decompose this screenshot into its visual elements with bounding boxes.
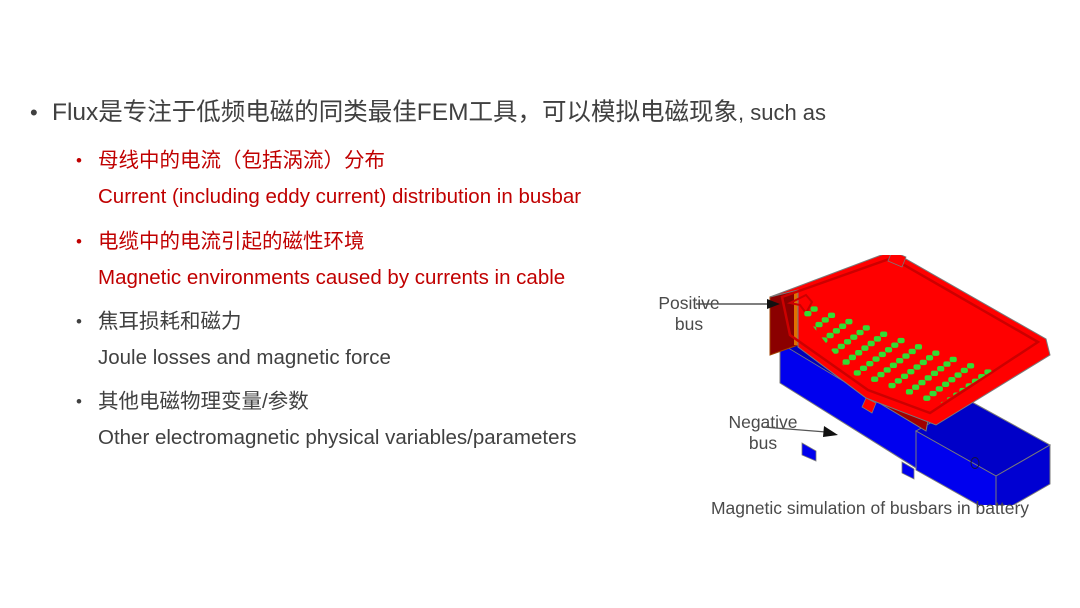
- cell-dot: [896, 358, 903, 363]
- cell-dot: [888, 383, 895, 388]
- cell-dot: [967, 363, 974, 368]
- cell-dot: [849, 355, 856, 360]
- sub-bullet-row-4: • 其他电磁物理变量/参数: [76, 385, 660, 418]
- cell-dot: [994, 401, 1001, 406]
- cell-dot: [948, 377, 955, 382]
- sub-bullet-row-3: • 焦耳损耗和磁力: [76, 305, 660, 338]
- cell-dot: [1000, 396, 1007, 401]
- cell-dot: [854, 370, 861, 375]
- cell-dot: [855, 350, 862, 355]
- cell-dot: [891, 342, 898, 347]
- busbar-figure: Positive bus Negative bus Magnetic simul…: [630, 255, 1080, 545]
- cell-dot: [833, 328, 840, 333]
- sub-bullet-cn-1: 母线中的电流（包括涡流）分布: [98, 144, 385, 177]
- cell-dot: [920, 360, 927, 365]
- slide-canvas: • Flux是专注于低频电磁的同类最佳FEM工具，可以模拟电磁现象, such …: [0, 0, 1080, 608]
- bullet-glyph-icon: •: [76, 225, 98, 258]
- cell-dot: [954, 372, 961, 377]
- cell-dot: [907, 369, 914, 374]
- cell-dot: [895, 378, 902, 383]
- cell-dot: [912, 385, 919, 390]
- label-negative-bus: Negative bus: [708, 412, 818, 454]
- cell-dot: [856, 330, 863, 335]
- main-bullet-text: Flux是专注于低频电磁的同类最佳FEM工具，可以模拟电磁现象, such as: [52, 96, 826, 130]
- cell-dot: [828, 313, 835, 318]
- figure-caption: Magnetic simulation of busbars in batter…: [670, 498, 1070, 519]
- cell-dot: [815, 322, 822, 327]
- sub-bullet-cn-2: 电缆中的电流引起的磁性环境: [98, 225, 365, 258]
- sub-bullet-en-3: Joule losses and magnetic force: [76, 338, 660, 378]
- cell-dot: [923, 395, 930, 400]
- cell-dot: [838, 344, 845, 349]
- cell-dot: [926, 355, 933, 360]
- label-negative-bus-line2: bus: [708, 433, 818, 454]
- cell-dot: [874, 336, 881, 341]
- sub-bullet-item-2: • 电缆中的电流引起的磁性环境 Magnetic environments ca…: [0, 225, 660, 298]
- cell-dot: [897, 338, 904, 343]
- cell-dot: [1013, 387, 1020, 392]
- cell-dot: [937, 366, 944, 371]
- cell-dot: [988, 405, 995, 410]
- cell-dot: [827, 333, 834, 338]
- cell-dot: [879, 352, 886, 357]
- cell-dot: [943, 361, 950, 366]
- main-bullet-row: • Flux是专注于低频电磁的同类最佳FEM工具，可以模拟电磁现象, such …: [0, 96, 660, 130]
- cell-dot: [890, 363, 897, 368]
- cell-dot: [872, 356, 879, 361]
- positive-bus-rib: [794, 289, 798, 345]
- cell-dot: [871, 377, 878, 382]
- cell-dot: [909, 349, 916, 354]
- sub-bullet-cn-4: 其他电磁物理变量/参数: [98, 385, 309, 418]
- cell-dot: [913, 364, 920, 369]
- bullet-list: • Flux是专注于低频电磁的同类最佳FEM工具，可以模拟电磁现象, such …: [0, 96, 660, 460]
- cell-dot: [1019, 382, 1026, 387]
- cell-dot: [932, 350, 939, 355]
- cell-dot: [942, 382, 949, 387]
- label-positive-bus: Positive bus: [640, 293, 738, 335]
- cell-dot: [863, 325, 870, 330]
- cell-dot: [885, 347, 892, 352]
- cell-dot: [918, 380, 925, 385]
- cell-dot: [936, 386, 943, 391]
- bullet-glyph-icon: •: [30, 96, 52, 130]
- cell-dot: [929, 391, 936, 396]
- cell-dot: [884, 367, 891, 372]
- cell-dot: [839, 324, 846, 329]
- cell-dot: [877, 372, 884, 377]
- sub-bullet-en-4: Other electromagnetic physical variables…: [76, 418, 660, 458]
- cell-dot: [850, 334, 857, 339]
- cell-dot: [822, 317, 829, 322]
- cell-dot: [880, 332, 887, 337]
- bullet-glyph-icon: •: [76, 144, 98, 177]
- sub-bullet-cn-3: 焦耳损耗和磁力: [98, 305, 242, 338]
- cell-dot: [811, 306, 818, 311]
- sub-bullet-item-1: • 母线中的电流（包括涡流）分布 Current (including eddy…: [0, 144, 660, 217]
- cell-dot: [915, 344, 922, 349]
- cell-dot: [843, 359, 850, 364]
- main-bullet-text-cn: Flux是专注于低频电磁的同类最佳FEM工具，可以模拟电磁现象: [52, 99, 738, 126]
- cell-dot: [860, 366, 867, 371]
- sub-bullet-en-2: Magnetic environments caused by currents…: [76, 258, 660, 298]
- cell-dot: [931, 371, 938, 376]
- sub-bullet-row-1: • 母线中的电流（包括涡流）分布: [76, 144, 660, 177]
- cell-dot: [1007, 391, 1014, 396]
- cell-dot: [901, 374, 908, 379]
- cell-dot: [868, 341, 875, 346]
- main-bullet-text-en: , such as: [738, 100, 826, 125]
- cell-dot: [950, 357, 957, 362]
- bullet-glyph-icon: •: [76, 385, 98, 418]
- cell-dot: [845, 319, 852, 324]
- cell-dot: [866, 361, 873, 366]
- bullet-glyph-icon: •: [76, 305, 98, 338]
- cell-dot: [961, 368, 968, 373]
- cell-dot: [906, 389, 913, 394]
- sub-bullet-row-2: • 电缆中的电流引起的磁性环境: [76, 225, 660, 258]
- cell-dot: [925, 375, 932, 380]
- cell-dot: [902, 353, 909, 358]
- positive-bus-end-face: [770, 288, 798, 355]
- label-positive-bus-line2: bus: [640, 314, 738, 335]
- cell-dot: [844, 339, 851, 344]
- cell-dot: [804, 311, 811, 316]
- sub-bullet-item-3: • 焦耳损耗和磁力 Joule losses and magnetic forc…: [0, 305, 660, 378]
- sub-bullet-item-4: • 其他电磁物理变量/参数 Other electromagnetic phys…: [0, 385, 660, 458]
- cell-dot: [861, 345, 868, 350]
- label-negative-bus-line1: Negative: [708, 412, 818, 433]
- label-positive-bus-line1: Positive: [640, 293, 738, 314]
- sub-bullet-en-1: Current (including eddy current) distrib…: [76, 177, 660, 217]
